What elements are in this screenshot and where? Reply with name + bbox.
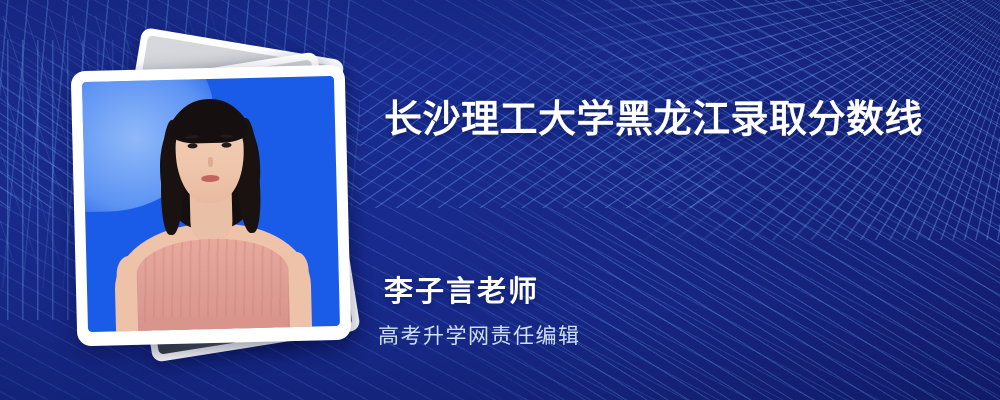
portrait-illustration <box>82 76 340 332</box>
article-header-banner: 长沙理工大学黑龙江录取分数线 李子言老师 高考升学网责任编辑 <box>0 0 1000 400</box>
portrait-dress-waistband <box>143 315 285 332</box>
portrait-mouth <box>201 175 220 182</box>
photo-card-front <box>71 65 352 347</box>
author-role-label: 高考升学网责任编辑 <box>378 320 581 350</box>
banner-title: 长沙理工大学黑龙江录取分数线 <box>384 98 923 143</box>
author-portrait-photo <box>82 76 340 332</box>
portrait-eye-right <box>221 142 231 147</box>
portrait-nose <box>208 156 213 167</box>
author-name: 李子言老师 <box>384 268 539 310</box>
photo-card-stack <box>60 40 350 350</box>
